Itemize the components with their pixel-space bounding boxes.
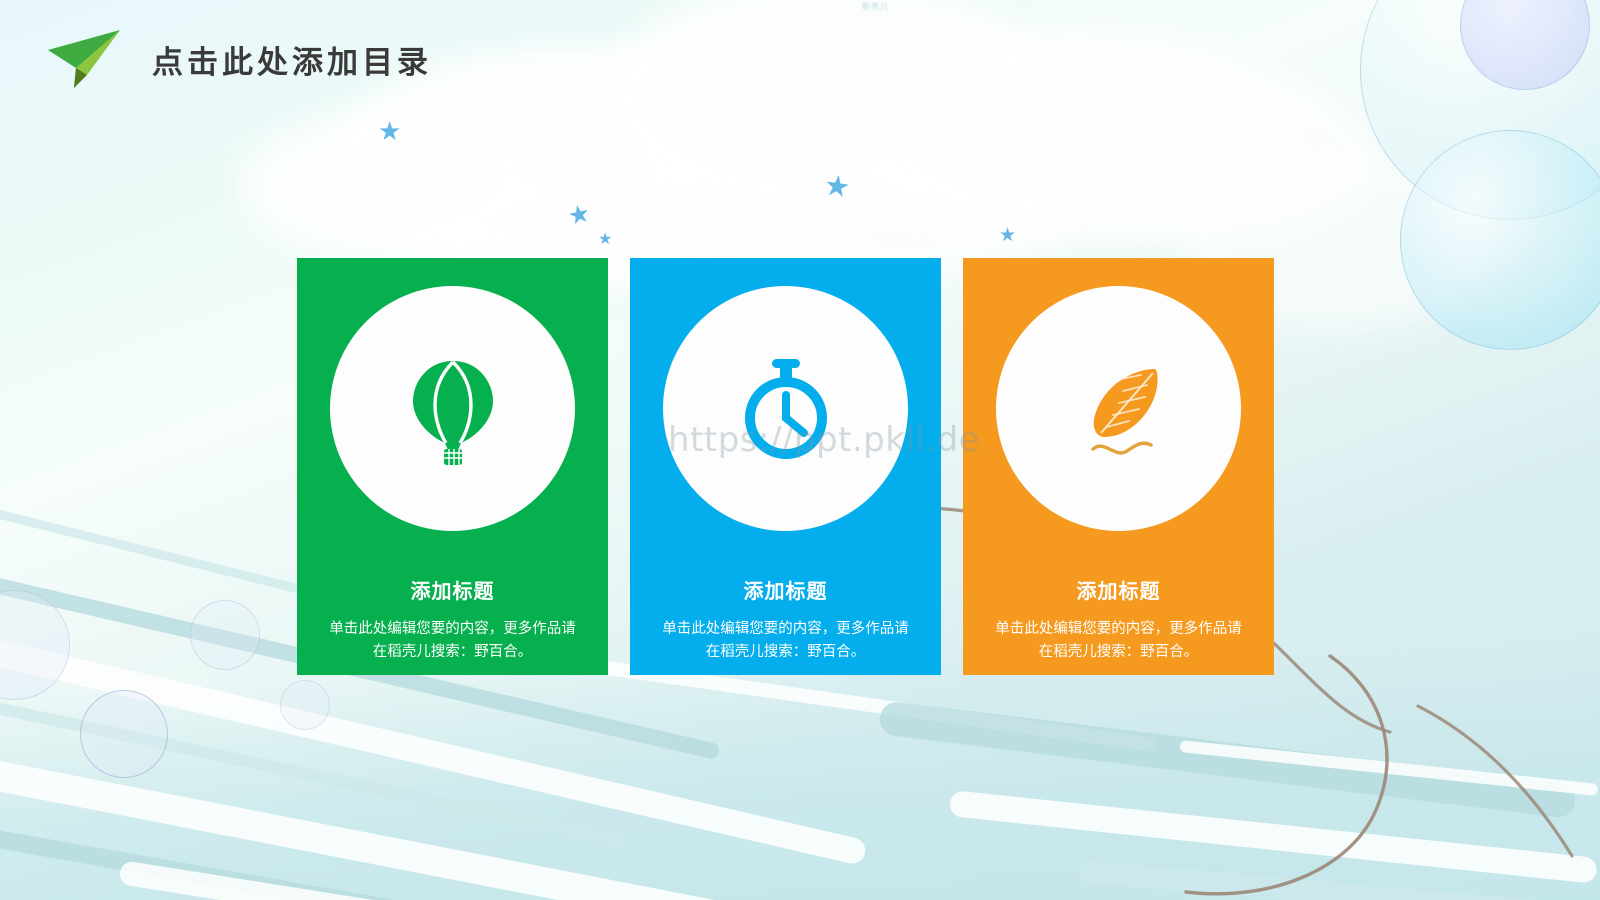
stopwatch-icon — [726, 349, 846, 469]
card-row: 添加标题 单击此处编辑您要的内容，更多作品请在稻壳儿搜索：野百合。 添加标题 单… — [297, 258, 1274, 675]
bubble-shape — [1360, 0, 1600, 220]
bubble-shape — [1460, 0, 1590, 90]
card-body: 单击此处编辑您要的内容，更多作品请在稻壳儿搜索：野百合。 — [989, 618, 1249, 665]
feather-leaf-icon — [1059, 349, 1179, 469]
bubble-shape — [280, 680, 330, 730]
icon-circle — [663, 286, 908, 531]
cloud-shape — [240, 110, 540, 260]
icon-circle — [330, 286, 575, 531]
background-streak — [878, 700, 1577, 819]
cloud-shape — [1050, 70, 1380, 240]
slide-header: 点击此处添加目录 — [46, 28, 432, 90]
star-icon: ★ — [822, 171, 852, 203]
star-icon: ★ — [378, 118, 401, 144]
cloud-shape — [860, 30, 1290, 240]
star-icon: ★ — [598, 232, 612, 248]
page-title: 点击此处添加目录 — [152, 37, 432, 82]
card-title: 添加标题 — [1077, 575, 1161, 604]
card-title: 添加标题 — [744, 575, 828, 604]
slide: ★ ★ ★ ★ ★ 稻壳儿 点击此处添加目录 — [0, 0, 1600, 900]
background-streak — [0, 740, 1071, 900]
top-watermark: 稻壳儿 — [862, 1, 889, 12]
background-streak — [0, 690, 626, 847]
background-streak — [118, 860, 1011, 900]
background-streak — [1079, 860, 1599, 900]
paper-plane-icon — [46, 28, 126, 90]
card-body: 单击此处编辑您要的内容，更多作品请在稻壳儿搜索：野百合。 — [656, 618, 916, 665]
bubble-shape — [0, 590, 70, 700]
background-haze — [420, 60, 760, 280]
card-body: 单击此处编辑您要的内容，更多作品请在稻壳儿搜索：野百合。 — [323, 618, 583, 665]
background-haze — [700, 20, 1000, 220]
background-streak — [0, 820, 828, 900]
card-blue[interactable]: 添加标题 单击此处编辑您要的内容，更多作品请在稻壳儿搜索：野百合。 — [630, 258, 941, 675]
card-orange[interactable]: 添加标题 单击此处编辑您要的内容，更多作品请在稻壳儿搜索：野百合。 — [963, 258, 1274, 675]
star-icon: ★ — [566, 201, 593, 230]
background-streak — [949, 790, 1598, 884]
card-title: 添加标题 — [411, 575, 495, 604]
background-streak — [1179, 740, 1598, 796]
cloud-shape — [600, 0, 1060, 220]
bubble-shape — [80, 690, 168, 778]
bubble-shape — [1400, 130, 1600, 350]
card-green[interactable]: 添加标题 单击此处编辑您要的内容，更多作品请在稻壳儿搜索：野百合。 — [297, 258, 608, 675]
star-icon: ★ — [999, 226, 1016, 245]
bubble-shape — [190, 600, 260, 670]
hot-air-balloon-icon — [393, 349, 513, 469]
icon-circle — [996, 286, 1241, 531]
